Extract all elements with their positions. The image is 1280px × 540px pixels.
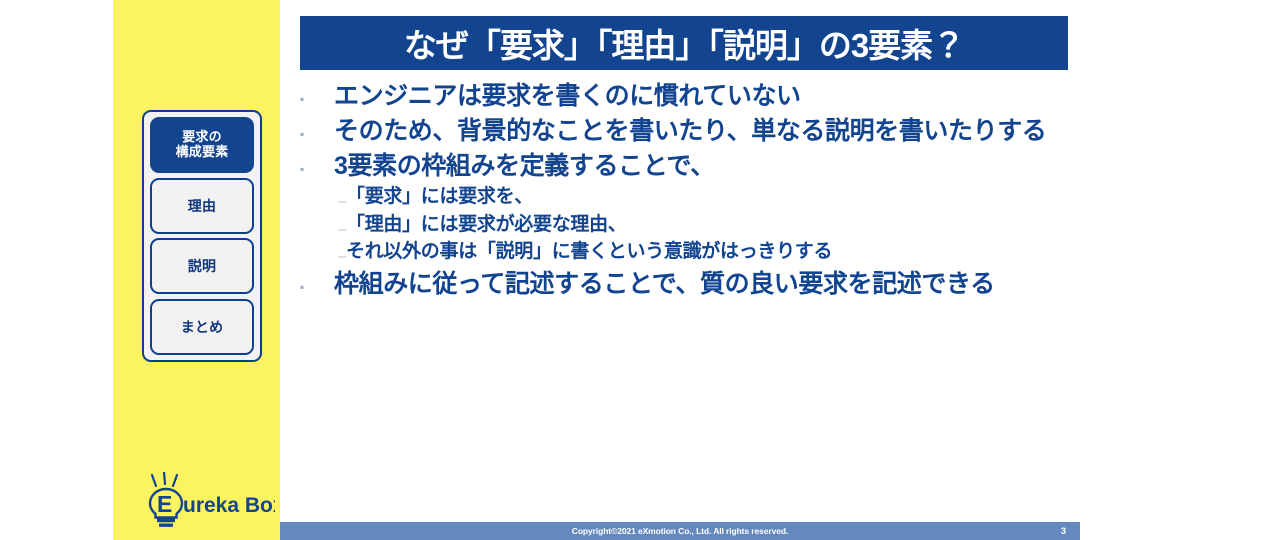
sub-bullet-marker-icon: –: [300, 240, 338, 264]
bullet-item: ▪ そのため、背景的なことを書いたり、単なる説明を書いたりする: [300, 115, 1080, 147]
sidebar-item-setsumei[interactable]: 説明: [150, 238, 254, 294]
bulb-base-2: [159, 524, 173, 527]
logo-bulb-letter: E: [157, 491, 172, 517]
bullet-text: エンジニアは要求を書くのに慣れていない: [334, 80, 1080, 112]
sidebar-item-label: まとめ: [181, 319, 224, 335]
bullet-item: ▪ エンジニアは要求を書くのに慣れていない: [300, 80, 1080, 112]
slide-title-bar: なぜ「要求」「理由」「説明」の3要素？: [300, 16, 1068, 70]
bullet-marker-icon: ▪: [300, 150, 334, 175]
section-nav-card: 要求の構成要素 理由 説明 まとめ: [142, 110, 262, 362]
slide-body: ▪ エンジニアは要求を書くのに慣れていない ▪ そのため、背景的なことを書いたり…: [300, 80, 1080, 303]
logo-wordmark: ureka Box: [183, 494, 275, 517]
sub-bullet-list: – 「要求」には要求を、 – 「理由」には要求が必要な理由、 – それ以外の事は…: [300, 185, 1080, 265]
slide-canvas: 要求の構成要素 理由 説明 まとめ E ureka Box なぜ「要求」「理由: [0, 0, 1280, 540]
sidebar-item-label: 理由: [188, 198, 216, 214]
page-title: なぜ「要求」「理由」「説明」の3要素？: [404, 19, 964, 67]
bullet-text: 枠組みに従って記述することで、質の良い要求を記述できる: [334, 268, 1080, 300]
eureka-box-logo: E ureka Box: [140, 472, 275, 530]
slide-footer: Copyright©2021 eXmotion Co., Ltd. All ri…: [280, 522, 1080, 540]
bullet-marker-icon: ▪: [300, 80, 334, 105]
sub-bullet-text: 「要求」には要求を、: [338, 185, 1080, 210]
sub-bullet-item: – 「理由」には要求が必要な理由、: [300, 213, 1080, 238]
bullet-marker-icon: ▪: [300, 115, 334, 140]
bullet-item: ▪ 3要素の枠組みを定義することで、: [300, 150, 1080, 182]
sub-bullet-marker-icon: –: [300, 213, 338, 237]
sidebar-item-label: 要求の構成要素: [176, 130, 229, 160]
sidebar-item-matome[interactable]: まとめ: [150, 299, 254, 355]
sub-bullet-text: それ以外の事は「説明」に書くという意識がはっきりする: [338, 240, 1080, 265]
bullet-marker-icon: ▪: [300, 268, 334, 293]
copyright-text: Copyright©2021 eXmotion Co., Ltd. All ri…: [280, 526, 1080, 536]
bullet-text: 3要素の枠組みを定義することで、: [334, 150, 1080, 182]
bulb-base: [157, 518, 175, 522]
sidebar-item-kousei-youso[interactable]: 要求の構成要素: [150, 117, 254, 173]
sidebar-item-label: 説明: [188, 258, 216, 274]
page-number: 3: [1061, 526, 1066, 536]
sub-bullet-item: – 「要求」には要求を、: [300, 185, 1080, 210]
lightbulb-icon: E ureka Box: [140, 472, 275, 530]
sub-bullet-text: 「理由」には要求が必要な理由、: [338, 213, 1080, 238]
bullet-item: ▪ 枠組みに従って記述することで、質の良い要求を記述できる: [300, 268, 1080, 300]
sidebar-item-riyuu[interactable]: 理由: [150, 178, 254, 234]
bullet-text: そのため、背景的なことを書いたり、単なる説明を書いたりする: [334, 115, 1080, 147]
sub-bullet-item: – それ以外の事は「説明」に書くという意識がはっきりする: [300, 240, 1080, 265]
sub-bullet-marker-icon: –: [300, 185, 338, 209]
